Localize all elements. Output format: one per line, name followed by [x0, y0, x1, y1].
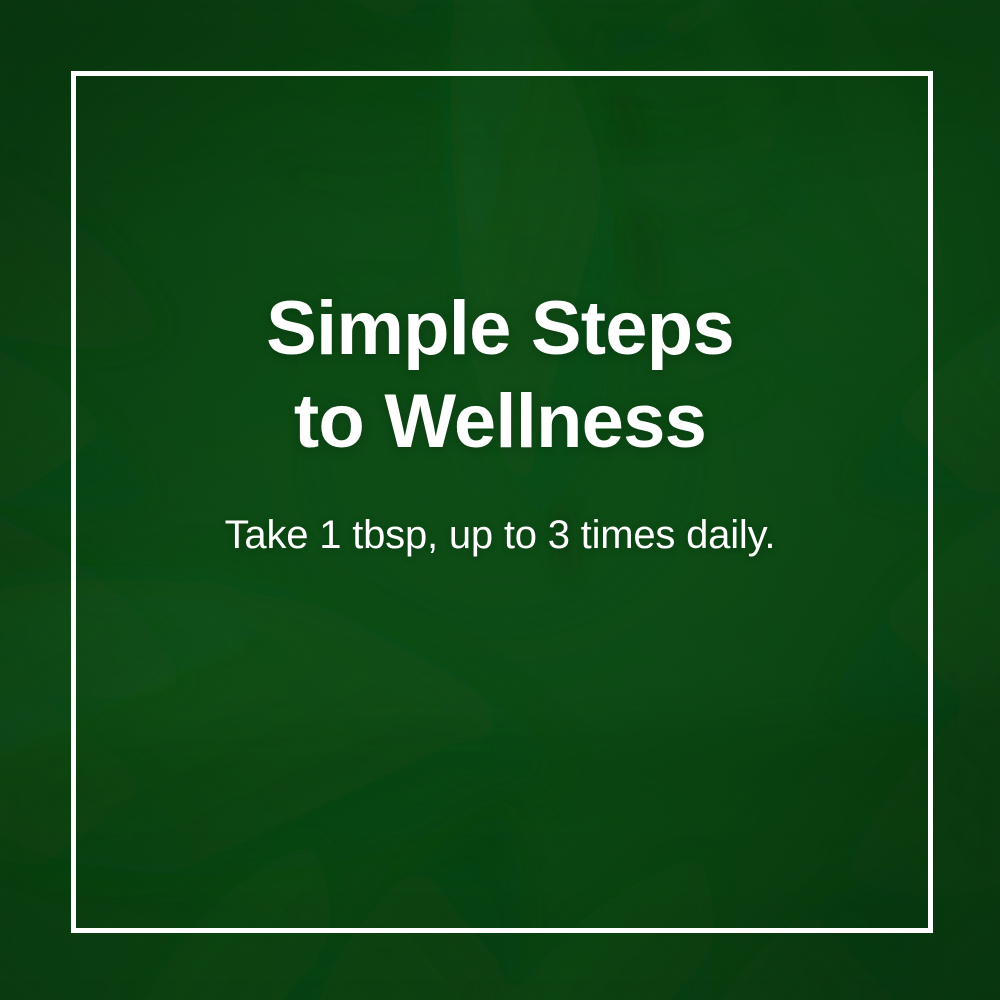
wellness-instruction-card: Simple Steps to Wellness Take 1 tbsp, up…: [0, 0, 1000, 1000]
dosage-instruction-text: Take 1 tbsp, up to 3 times daily.: [90, 510, 910, 561]
text-block: Simple Steps to Wellness Take 1 tbsp, up…: [0, 283, 1000, 562]
page-title: Simple Steps to Wellness: [90, 283, 910, 468]
